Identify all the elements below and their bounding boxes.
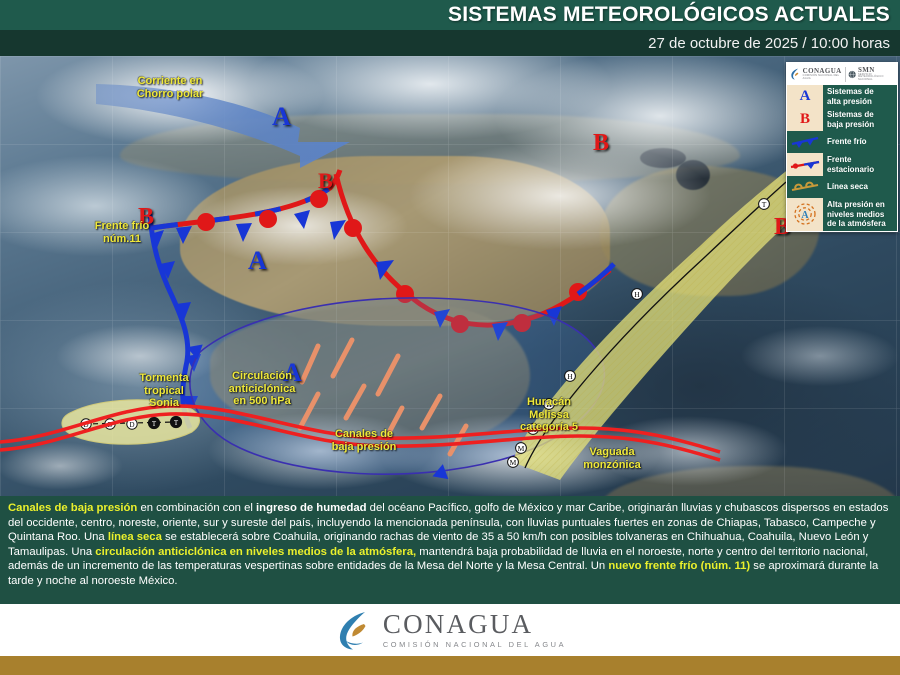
bulletin-datetime: 27 de octubre de 2025 / 10:00 horas	[648, 35, 900, 52]
legend-label-cold-front: Frente frío	[823, 131, 897, 153]
legend-item-high-pressure[interactable]: A Sistemas de alta presión	[787, 85, 897, 108]
mid-level-high-icon: A	[787, 198, 823, 231]
legend-brand-header: CONAGUA COMISIÓN NACIONAL DEL AGUA SMN S…	[787, 63, 897, 85]
svg-text:H: H	[634, 290, 640, 299]
footer: CONAGUA COMISIÓN NACIONAL DEL AGUA	[0, 604, 900, 656]
svg-text:H: H	[567, 372, 573, 381]
footer-gold-bar	[0, 656, 900, 675]
svg-text:H: H	[546, 400, 552, 409]
legend-smn-tagline: SERVICIO METEOROLÓGICO NACIONAL	[858, 74, 894, 82]
legend-label-mid-level-high: Alta presión en niveles medios de la atm…	[823, 198, 897, 231]
map-overlay-svg: T H H H M M M D D D T T	[0, 56, 900, 496]
dry-line-icon	[787, 176, 823, 198]
legend-item-stationary-front[interactable]: Frente estacionario	[787, 153, 897, 176]
high-pressure-a-icon: A	[787, 85, 823, 108]
stationary-front-glyph	[789, 158, 821, 172]
svg-text:T: T	[762, 200, 767, 209]
footer-tagline: COMISIÓN NACIONAL DEL AGUA	[383, 641, 566, 648]
date-bar: 27 de octubre de 2025 / 10:00 horas	[0, 30, 900, 56]
legend-item-mid-level-high[interactable]: A Alta presión en niveles medios de la a…	[787, 198, 897, 231]
dry-line-glyph	[790, 180, 820, 194]
cold-front-glyph	[790, 135, 820, 149]
legend-conagua-logo: CONAGUA COMISIÓN NACIONAL DEL AGUA	[790, 67, 843, 81]
mid-level-high-glyph: A	[792, 201, 818, 227]
legend-divider	[845, 67, 846, 82]
cold-front-icon	[787, 131, 823, 153]
conagua-logo-icon	[334, 609, 376, 651]
svg-text:D: D	[129, 421, 134, 429]
stationary-front-icon	[787, 153, 823, 176]
forecast-text-panel: Canales de baja presión en combinación c…	[0, 496, 900, 604]
footer-conagua-logo: CONAGUA COMISIÓN NACIONAL DEL AGUA	[334, 609, 566, 651]
weather-bulletin-page: SISTEMAS METEOROLÓGICOS ACTUALES 27 de o…	[0, 0, 900, 675]
jet-stream-arrow	[96, 84, 355, 168]
page-title: SISTEMAS METEOROLÓGICOS ACTUALES	[448, 3, 900, 27]
svg-text:M: M	[510, 458, 517, 467]
title-bar: SISTEMAS METEOROLÓGICOS ACTUALES	[0, 0, 900, 30]
forecast-paragraph: Canales de baja presión en combinación c…	[8, 502, 888, 587]
footer-brand-name: CONAGUA	[383, 611, 566, 638]
low-pressure-b-icon: B	[787, 108, 823, 131]
svg-text:T: T	[152, 420, 157, 428]
svg-text:A: A	[801, 210, 809, 221]
legend-label-high-pressure: Sistemas de alta presión	[823, 85, 897, 108]
legend-symbol-a: A	[800, 88, 811, 105]
legend-conagua-tagline: COMISIÓN NACIONAL DEL AGUA	[803, 75, 843, 80]
stationary-front-main	[152, 170, 340, 244]
smn-globe-icon	[848, 68, 856, 81]
legend-item-cold-front[interactable]: Frente frío	[787, 131, 897, 153]
satellite-weather-map[interactable]: T H H H M M M D D D T T	[0, 56, 900, 496]
svg-text:T: T	[174, 419, 179, 427]
legend-item-low-pressure[interactable]: B Sistemas de baja presión	[787, 108, 897, 131]
svg-text:M: M	[518, 444, 525, 453]
legend-smn-logo: SMN SERVICIO METEOROLÓGICO NACIONAL	[848, 67, 894, 82]
legend-label-stationary-front: Frente estacionario	[823, 153, 897, 176]
map-legend[interactable]: CONAGUA COMISIÓN NACIONAL DEL AGUA SMN S…	[786, 62, 898, 232]
legend-label-dry-line: Línea seca	[823, 176, 897, 198]
legend-label-low-pressure: Sistemas de baja presión	[823, 108, 897, 131]
legend-item-dry-line[interactable]: Línea seca	[787, 176, 897, 198]
legend-symbol-b: B	[800, 111, 810, 128]
conagua-wave-icon	[790, 67, 801, 81]
